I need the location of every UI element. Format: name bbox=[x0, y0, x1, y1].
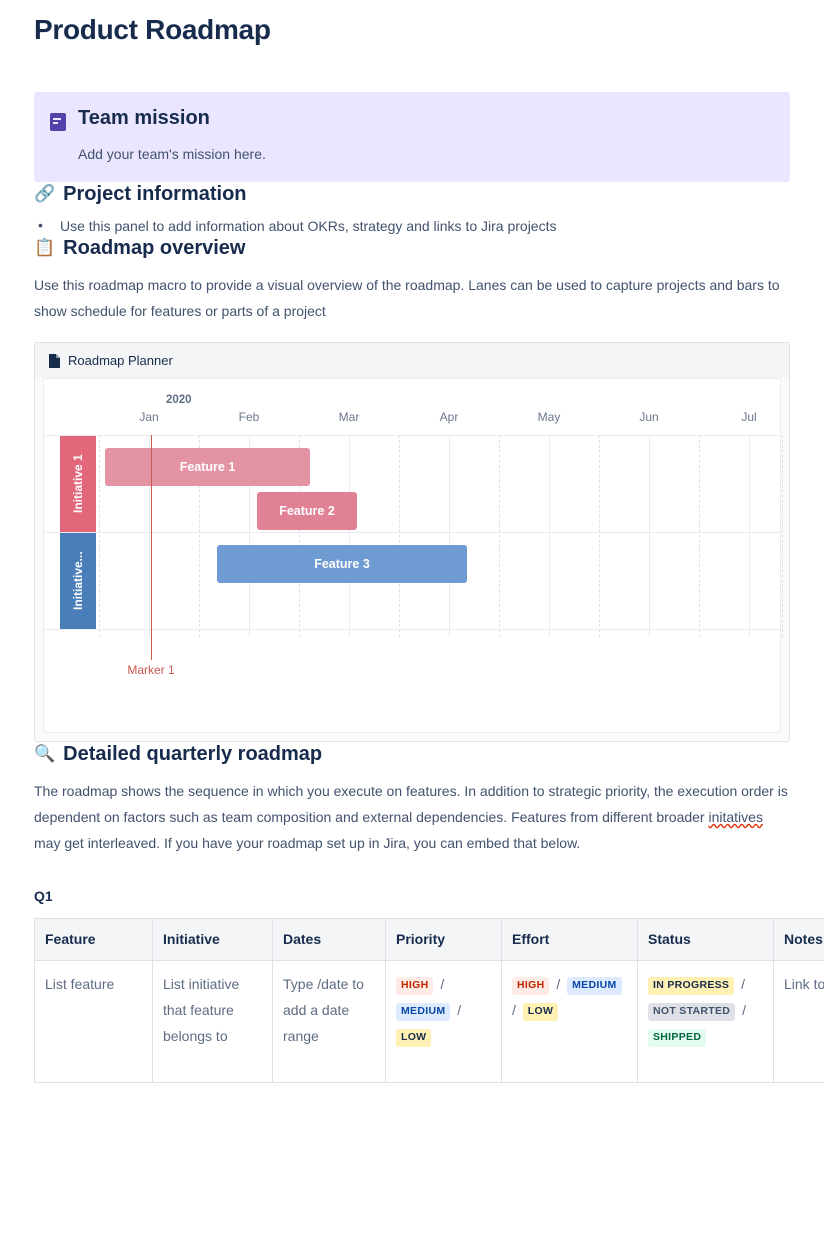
status-badge[interactable]: HIGH bbox=[512, 977, 549, 995]
lane-label-initiative-1[interactable]: Initiative 1 bbox=[60, 436, 96, 532]
column-header-priority[interactable]: Priority bbox=[386, 919, 502, 961]
magnifying-glass-icon: 🔍 bbox=[34, 746, 55, 763]
timeline-grid: Initiative 1 Feature 1 Feature 2 Initiat… bbox=[44, 435, 780, 732]
roadmap-lane-1[interactable]: Initiative 1 Feature 1 Feature 2 bbox=[44, 435, 780, 532]
gridline bbox=[782, 435, 783, 637]
page-root: Product Roadmap Team mission Add your te… bbox=[0, 0, 824, 1083]
roadmap-planner-label: Roadmap Planner bbox=[68, 353, 173, 368]
roadmap-overview-heading-label: Roadmap overview bbox=[63, 236, 245, 260]
team-mission-text[interactable]: Add your team's mission here. bbox=[78, 144, 774, 164]
quarter-heading: Q1 bbox=[34, 888, 790, 904]
roadmap-planner-macro[interactable]: Roadmap Planner 2020 Jan Feb Mar Apr May… bbox=[34, 342, 790, 742]
project-information-heading-label: Project information bbox=[63, 182, 246, 206]
roadmap-planner-header: Roadmap Planner bbox=[35, 343, 789, 378]
page-title: Product Roadmap bbox=[34, 0, 790, 46]
roadmap-lane-2[interactable]: Initiative... Feature 3 bbox=[44, 532, 780, 629]
timeline-year: 2020 bbox=[166, 394, 192, 406]
column-header-initiative[interactable]: Initiative bbox=[153, 919, 273, 961]
timeline-month-jul: Jul bbox=[741, 410, 756, 424]
project-information-heading: 🔗 Project information bbox=[34, 182, 790, 206]
column-header-notes[interactable]: Notes bbox=[774, 919, 824, 961]
column-header-feature[interactable]: Feature bbox=[35, 919, 153, 961]
team-mission-body: Team mission Add your team's mission her… bbox=[78, 106, 774, 164]
timeline-month-feb: Feb bbox=[239, 410, 260, 424]
badge-separator: / bbox=[433, 976, 447, 992]
detailed-roadmap-heading-label: Detailed quarterly roadmap bbox=[63, 742, 322, 766]
document-icon bbox=[49, 354, 60, 368]
team-mission-title: Team mission bbox=[78, 106, 774, 130]
cell-dates[interactable]: Type /date to add a date range bbox=[273, 961, 386, 1083]
timeline-month-mar: Mar bbox=[339, 410, 360, 424]
roadmap-overview-description: Use this roadmap macro to provide a visu… bbox=[34, 272, 790, 324]
badge-separator: / bbox=[450, 1002, 464, 1018]
badge-separator: / bbox=[549, 976, 567, 992]
badge-separator: / bbox=[734, 976, 748, 992]
marker-label[interactable]: Marker 1 bbox=[127, 663, 174, 677]
cell-feature[interactable]: List feature bbox=[35, 961, 153, 1083]
roadmap-planner-chart[interactable]: 2020 Jan Feb Mar Apr May Jun Jul bbox=[43, 378, 781, 733]
lane-bottom-rule bbox=[44, 629, 780, 630]
status-badge[interactable]: LOW bbox=[396, 1029, 431, 1047]
status-badge[interactable]: NOT STARTED bbox=[648, 1003, 735, 1021]
timeline-month-jun: Jun bbox=[639, 410, 658, 424]
status-badge[interactable]: MEDIUM bbox=[396, 1003, 450, 1021]
list-item: Use this panel to add information about … bbox=[60, 216, 790, 236]
table-header-row: Feature Initiative Dates Priority Effort… bbox=[35, 919, 824, 961]
gantt-bar-feature-2[interactable]: Feature 2 bbox=[257, 492, 357, 530]
marker-line[interactable] bbox=[151, 435, 152, 660]
detailed-roadmap-paragraph: The roadmap shows the sequence in which … bbox=[34, 778, 790, 856]
clipboard-icon: 📋 bbox=[34, 240, 55, 257]
project-information-list: Use this panel to add information about … bbox=[34, 216, 790, 236]
gantt-bar-feature-1[interactable]: Feature 1 bbox=[105, 448, 310, 486]
status-badge[interactable]: SHIPPED bbox=[648, 1029, 706, 1047]
gantt-bar-feature-3[interactable]: Feature 3 bbox=[217, 545, 467, 583]
link-icon: 🔗 bbox=[34, 186, 55, 203]
misspelled-word: initatives bbox=[708, 809, 762, 825]
status-badge[interactable]: MEDIUM bbox=[567, 977, 621, 995]
timeline-month-jan: Jan bbox=[139, 410, 158, 424]
status-badge[interactable]: LOW bbox=[523, 1003, 558, 1021]
lane-label-initiative-2[interactable]: Initiative... bbox=[60, 533, 96, 629]
note-panel-icon bbox=[50, 113, 66, 131]
roadmap-table[interactable]: Feature Initiative Dates Priority Effort… bbox=[34, 918, 824, 1083]
team-mission-panel[interactable]: Team mission Add your team's mission her… bbox=[34, 92, 790, 182]
detailed-roadmap-heading: 🔍 Detailed quarterly roadmap bbox=[34, 742, 790, 766]
paragraph-part-1: The roadmap shows the sequence in which … bbox=[34, 783, 788, 825]
column-header-status[interactable]: Status bbox=[638, 919, 774, 961]
column-header-dates[interactable]: Dates bbox=[273, 919, 386, 961]
roadmap-table-wrap: Feature Initiative Dates Priority Effort… bbox=[34, 918, 824, 1083]
cell-initiative[interactable]: List initiative that feature belongs to bbox=[153, 961, 273, 1083]
table-row[interactable]: List feature List initiative that featur… bbox=[35, 961, 824, 1083]
roadmap-overview-heading: 📋 Roadmap overview bbox=[34, 236, 790, 260]
timeline-month-may: May bbox=[538, 410, 561, 424]
timeline-header: 2020 Jan Feb Mar Apr May Jun Jul bbox=[44, 379, 780, 435]
badge-separator: / bbox=[735, 1002, 749, 1018]
cell-priority[interactable]: HIGH / MEDIUM / LOW bbox=[386, 961, 502, 1083]
cell-status[interactable]: IN PROGRESS / NOT STARTED / SHIPPED bbox=[638, 961, 774, 1083]
paragraph-part-2: may get interleaved. If you have your ro… bbox=[34, 835, 580, 851]
column-header-effort[interactable]: Effort bbox=[502, 919, 638, 961]
timeline-month-apr: Apr bbox=[440, 410, 459, 424]
cell-notes[interactable]: Link to page or epic bbox=[774, 961, 824, 1083]
cell-effort[interactable]: HIGH / MEDIUM / LOW bbox=[502, 961, 638, 1083]
status-badge[interactable]: HIGH bbox=[396, 977, 433, 995]
status-badge[interactable]: IN PROGRESS bbox=[648, 977, 734, 995]
